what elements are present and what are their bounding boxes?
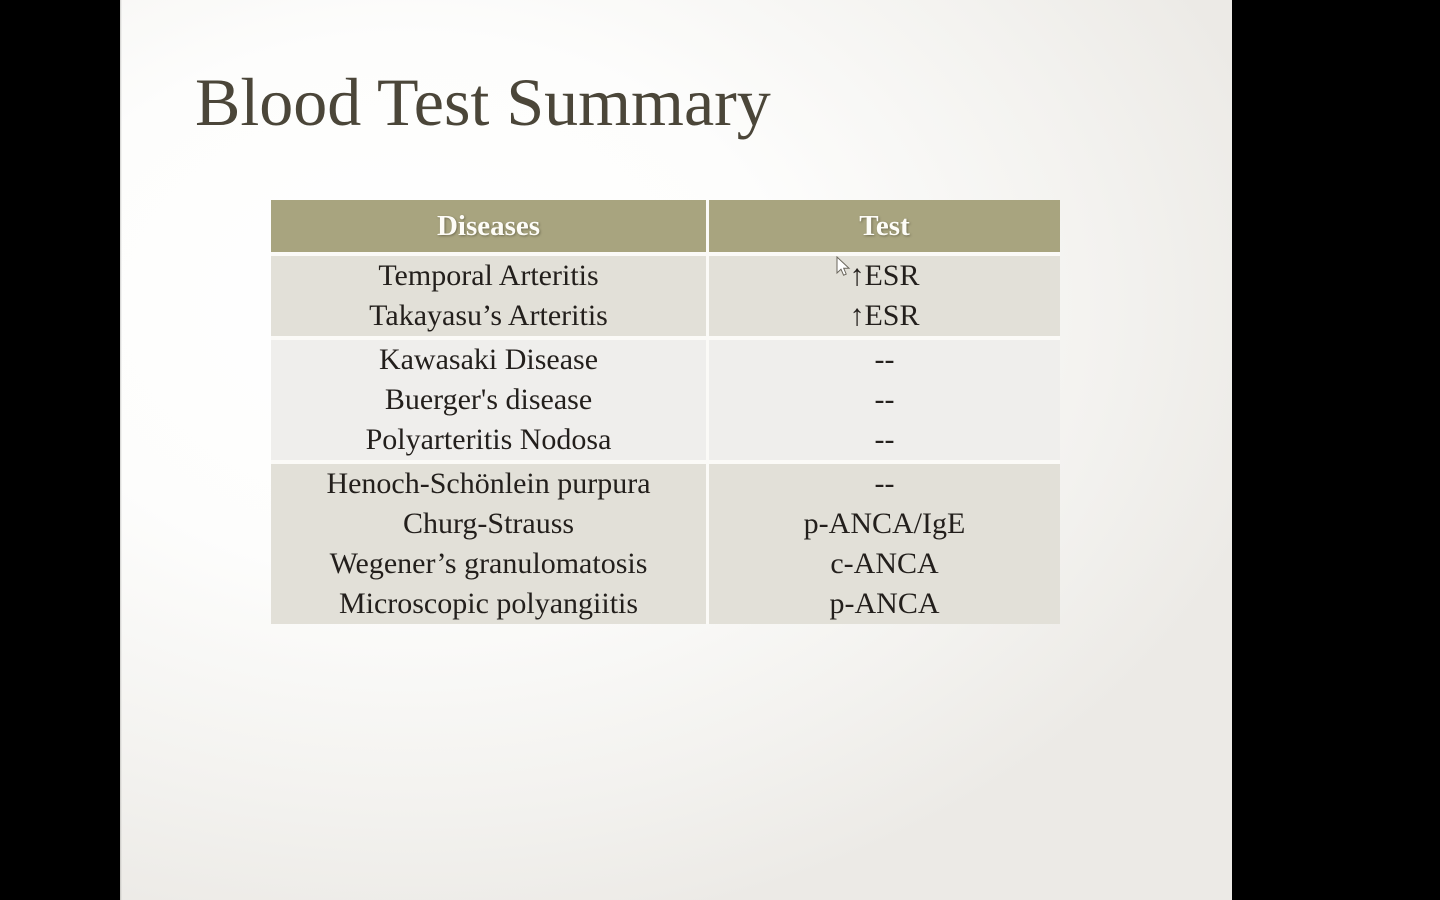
letterbox-left-bar (0, 0, 120, 900)
table-row: Kawasaki Disease Buerger's disease Polya… (271, 336, 1060, 460)
cell-diseases: Henoch-Schönlein purpura Churg-Strauss W… (271, 460, 709, 624)
table-row: Temporal Arteritis Takayasu’s Arteritis … (271, 252, 1060, 336)
cell-line: p-ANCA (709, 584, 1060, 624)
cell-line: Takayasu’s Arteritis (271, 296, 706, 336)
cell-line: -- (709, 464, 1060, 504)
table-row: Henoch-Schönlein purpura Churg-Strauss W… (271, 460, 1060, 624)
cell-line: c-ANCA (709, 544, 1060, 584)
cell-line: -- (709, 380, 1060, 420)
cell-diseases: Temporal Arteritis Takayasu’s Arteritis (271, 252, 709, 336)
table-header: Diseases Test (271, 200, 1060, 252)
letterbox-right-bar (1322, 0, 1440, 900)
column-header-test: Test (709, 200, 1060, 252)
cell-test: ↑ESR ↑ESR (709, 252, 1060, 336)
cell-line: Kawasaki Disease (271, 340, 706, 380)
cell-line: Henoch-Schönlein purpura (271, 464, 706, 504)
blood-test-summary-table: Diseases Test Temporal Arteritis Takayas… (271, 200, 1060, 624)
cell-line: p-ANCA/IgE (709, 504, 1060, 544)
cell-line: Churg-Strauss (271, 504, 706, 544)
cell-line: ↑ESR (709, 296, 1060, 336)
table-header-row: Diseases Test (271, 200, 1060, 252)
presentation-slide: Blood Test Summary Diseases Test Tempora… (120, 0, 1232, 900)
cell-test: -- p-ANCA/IgE c-ANCA p-ANCA (709, 460, 1060, 624)
cell-diseases: Kawasaki Disease Buerger's disease Polya… (271, 336, 709, 460)
cell-line: ↑ESR (709, 256, 1060, 296)
cell-line: -- (709, 420, 1060, 460)
page-title: Blood Test Summary (195, 68, 771, 136)
cell-line: Microscopic polyangiitis (271, 584, 706, 624)
cell-line: Wegener’s granulomatosis (271, 544, 706, 584)
column-header-diseases: Diseases (271, 200, 709, 252)
cell-line: -- (709, 340, 1060, 380)
cell-line: Polyarteritis Nodosa (271, 420, 706, 460)
cell-line: Buerger's disease (271, 380, 706, 420)
cell-test: -- -- -- (709, 336, 1060, 460)
video-player-screen: Blood Test Summary Diseases Test Tempora… (0, 0, 1440, 900)
table-body: Temporal Arteritis Takayasu’s Arteritis … (271, 252, 1060, 624)
cell-line: Temporal Arteritis (271, 256, 706, 296)
